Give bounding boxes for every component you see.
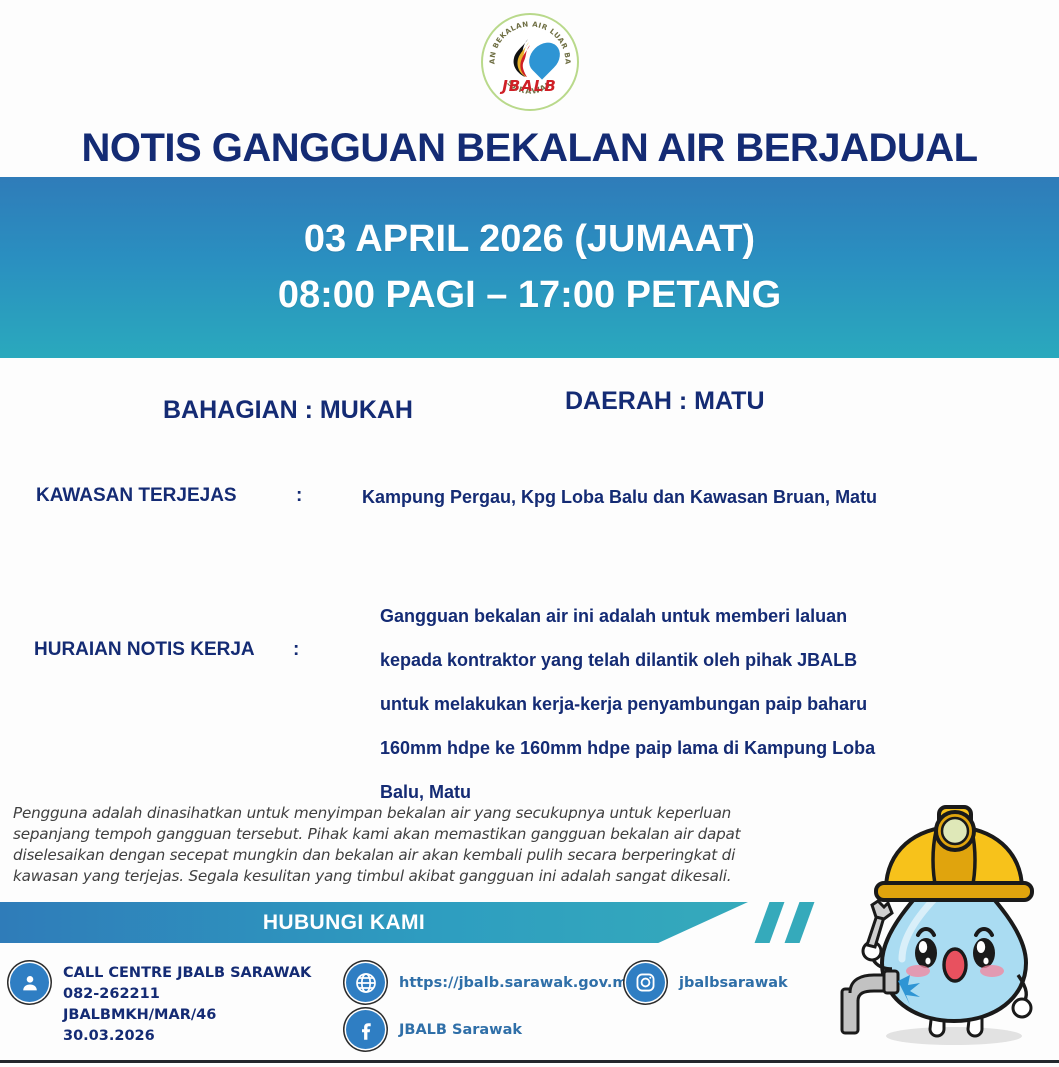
website-url[interactable]: https://jbalb.sarawak.gov.my/ xyxy=(399,975,642,991)
logo-flame-icon xyxy=(511,37,531,79)
notice-poster: JABATAN BEKALAN AIR LUAR BANDAR SARAWAK … xyxy=(0,0,1059,1067)
call-centre-date: 30.03.2026 xyxy=(63,1026,311,1047)
facebook-icon[interactable] xyxy=(346,1010,385,1049)
notice-time: 08:00 PAGI – 17:00 PETANG xyxy=(278,268,781,323)
call-centre-reference: JBALBMKH/MAR/46 xyxy=(63,1005,311,1026)
disclaimer-text: Pengguna adalah dinasihatkan untuk menyi… xyxy=(13,803,773,887)
district-label: DAERAH : MATU xyxy=(565,387,765,416)
location-row: BAHAGIAN : MUKAH DAERAH : MATU xyxy=(0,396,1059,432)
work-description-line: Gangguan bekalan air ini adalah untuk me… xyxy=(380,594,980,638)
contact-instagram[interactable]: jbalbsarawak xyxy=(626,963,788,1002)
date-time-banner: 03 APRIL 2026 (JUMAAT) 08:00 PAGI – 17:0… xyxy=(0,177,1059,358)
facebook-handle[interactable]: JBALB Sarawak xyxy=(399,1022,522,1038)
work-description-line: untuk melakukan kerja-kerja penyambungan… xyxy=(380,682,980,726)
logo-container: JABATAN BEKALAN AIR LUAR BANDAR SARAWAK … xyxy=(0,8,1059,116)
user-icon xyxy=(10,963,49,1002)
water-droplet-mascot-illustration xyxy=(836,793,1054,1055)
call-centre-phone: 082-262211 xyxy=(63,984,311,1005)
affected-area-colon: : xyxy=(296,485,302,507)
work-description-line: kepada kontraktor yang telah dilantik ol… xyxy=(380,638,980,682)
call-centre-details: CALL CENTRE JBALB SARAWAK 082-262211 JBA… xyxy=(63,963,311,1047)
contact-facebook[interactable]: JBALB Sarawak xyxy=(346,1010,522,1049)
notice-date: 03 APRIL 2026 (JUMAAT) xyxy=(304,212,755,267)
instagram-icon[interactable] xyxy=(626,963,665,1002)
division-label: BAHAGIAN : MUKAH xyxy=(163,396,413,425)
jbalb-logo-icon: JABATAN BEKALAN AIR LUAR BANDAR SARAWAK … xyxy=(481,13,579,111)
work-description-colon: : xyxy=(293,639,299,661)
logo-acronym: JBALB xyxy=(483,77,577,95)
call-centre-name: CALL CENTRE JBALB SARAWAK xyxy=(63,963,311,984)
affected-area-label: KAWASAN TERJEJAS xyxy=(36,485,237,507)
banner-slash-decoration xyxy=(755,902,785,943)
contact-banner-label: HUBUNGI KAMI xyxy=(263,911,425,935)
affected-area-value: Kampung Pergau, Kpg Loba Balu dan Kawasa… xyxy=(362,487,877,508)
globe-icon[interactable] xyxy=(346,963,385,1002)
work-description-label: HURAIAN NOTIS KERJA xyxy=(34,639,255,661)
banner-slash-decoration xyxy=(785,902,815,943)
contact-banner: HUBUNGI KAMI xyxy=(0,902,748,943)
bottom-divider xyxy=(0,1060,1059,1063)
work-description-value: Gangguan bekalan air ini adalah untuk me… xyxy=(380,594,980,814)
contact-call-centre: CALL CENTRE JBALB SARAWAK 082-262211 JBA… xyxy=(10,963,311,1047)
contact-website[interactable]: https://jbalb.sarawak.gov.my/ xyxy=(346,963,642,1002)
work-description-line: 160mm hdpe ke 160mm hdpe paip lama di Ka… xyxy=(380,726,980,770)
page-title: NOTIS GANGGUAN BEKALAN AIR BERJADUAL xyxy=(0,126,1059,171)
instagram-handle[interactable]: jbalbsarawak xyxy=(679,975,788,991)
